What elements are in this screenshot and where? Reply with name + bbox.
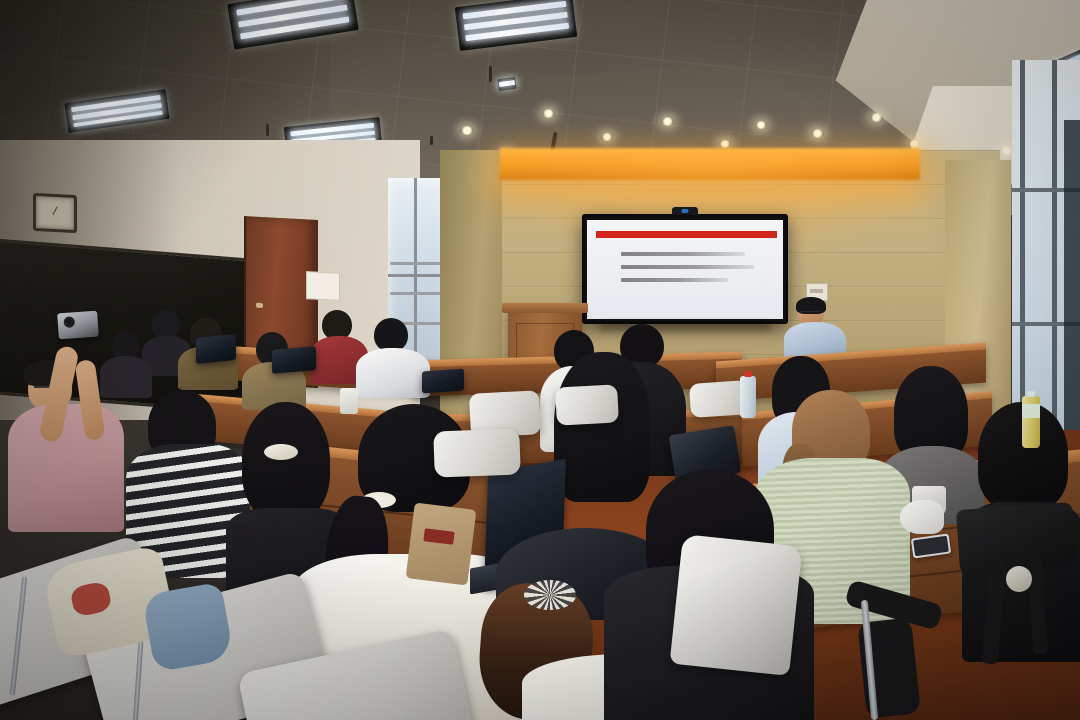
ceiling-sprinkler-icon (430, 136, 433, 145)
downlight (601, 133, 613, 141)
downlight (719, 140, 731, 148)
laptop-screen[interactable] (196, 334, 236, 364)
downlight (908, 140, 920, 148)
water-bottle[interactable] (740, 376, 756, 418)
presentation-display[interactable] (582, 214, 788, 324)
ceiling-mount-stem (266, 124, 269, 136)
downlight (460, 126, 474, 135)
hair-scrunchie-icon (264, 444, 298, 460)
webcam-icon (672, 207, 698, 215)
wall-poster (306, 271, 340, 301)
handbag[interactable] (956, 502, 1076, 574)
display-screen (587, 220, 783, 319)
door-knob-icon (256, 303, 263, 308)
wall-clock-icon (33, 193, 77, 233)
chair (670, 534, 803, 676)
downlight (870, 113, 883, 122)
attendee-bag-strap (406, 503, 477, 586)
slide-accent-bar (596, 231, 777, 238)
window-railing (390, 262, 446, 265)
bag-charm-icon (1006, 566, 1032, 592)
slide-bullet-list (621, 252, 769, 291)
chair (555, 384, 619, 425)
ceiling-panel-light (497, 77, 516, 91)
ceiling-mount-stem (489, 66, 492, 82)
downlight (755, 121, 767, 129)
downlight (542, 109, 555, 118)
slide-bullet (621, 265, 754, 269)
bottle-label (1022, 404, 1040, 418)
slide-bullet (621, 252, 745, 256)
paper-cup (340, 388, 358, 414)
photo-scene: R (0, 0, 1080, 720)
window-railing (390, 292, 446, 295)
downlight (661, 117, 674, 126)
camera-lens-icon (63, 316, 75, 328)
downlight (811, 129, 824, 138)
attendee-photographer (6, 352, 126, 532)
attendee (356, 318, 430, 394)
cove-light-strip (500, 148, 920, 180)
laptop-screen[interactable] (272, 346, 316, 374)
bottle-cap-icon (1027, 391, 1035, 397)
presenter (786, 300, 848, 360)
hair-scrunchie-beaded-icon (524, 580, 576, 610)
chair (433, 429, 521, 478)
tissue (900, 500, 944, 534)
laptop-screen[interactable] (422, 369, 464, 394)
lectern-top (502, 303, 588, 313)
bottle-cap-icon (744, 371, 752, 377)
camera-icon (57, 311, 99, 340)
attendee-torso (8, 404, 124, 532)
presenter-glasses-icon (801, 311, 821, 316)
slide-bullet (621, 278, 728, 282)
window-right (1012, 60, 1080, 450)
